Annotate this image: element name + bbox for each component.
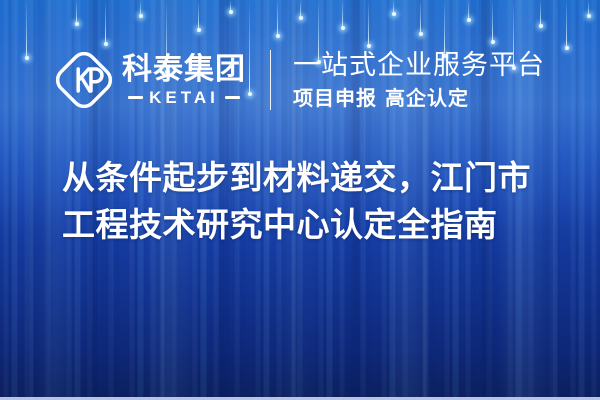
brand-name-en-row: KETAI (128, 89, 240, 106)
slogan-main-text: 一站式企业服务平台 (293, 51, 545, 80)
meteor-streak-icon (492, 0, 493, 42)
brand-logo[interactable]: 科泰集团 KETAI (55, 51, 246, 109)
meteor-streak-icon (566, 0, 567, 48)
meteor-streak-icon (198, 0, 199, 30)
meteor-streak-icon (140, 0, 141, 16)
brand-name-cn: 科泰集团 (122, 55, 246, 85)
meteor-streak-icon (540, 0, 541, 26)
brand-name-en: KETAI (149, 89, 219, 106)
meteor-streak-icon (105, 0, 106, 44)
brand-wordmark: 科泰集团 KETAI (122, 55, 246, 106)
promo-banner: 科泰集团 KETAI 一站式企业服务平台 项目申报 高企认定 从条件起步到材料递… (0, 0, 600, 400)
slogan-sub-text: 项目申报 高企认定 (293, 87, 545, 109)
vertical-divider (270, 50, 271, 110)
meteor-streak-icon (230, 0, 231, 12)
dash-right-icon (225, 96, 240, 99)
headline-text: 从条件起步到材料递交，江门市工程技术研究中心认定全指南 (62, 155, 554, 249)
meteor-streak-icon (76, 0, 77, 24)
dash-left-icon (128, 96, 143, 99)
meteor-streak-icon (588, 0, 589, 16)
meteor-streak-icon (393, 0, 394, 14)
meteor-streak-icon (277, 0, 278, 36)
slogan-block: 一站式企业服务平台 项目申报 高企认定 (293, 51, 545, 109)
ketai-kp-monogram-logo-icon (55, 51, 113, 109)
meteor-streak-icon (420, 0, 421, 34)
meteor-streak-icon (368, 0, 369, 46)
meteor-streak-icon (468, 0, 469, 20)
meteor-streak-icon (342, 0, 343, 28)
meteor-streak-icon (300, 0, 301, 18)
banner-header: 科泰集团 KETAI 一站式企业服务平台 项目申报 高企认定 (0, 44, 600, 116)
